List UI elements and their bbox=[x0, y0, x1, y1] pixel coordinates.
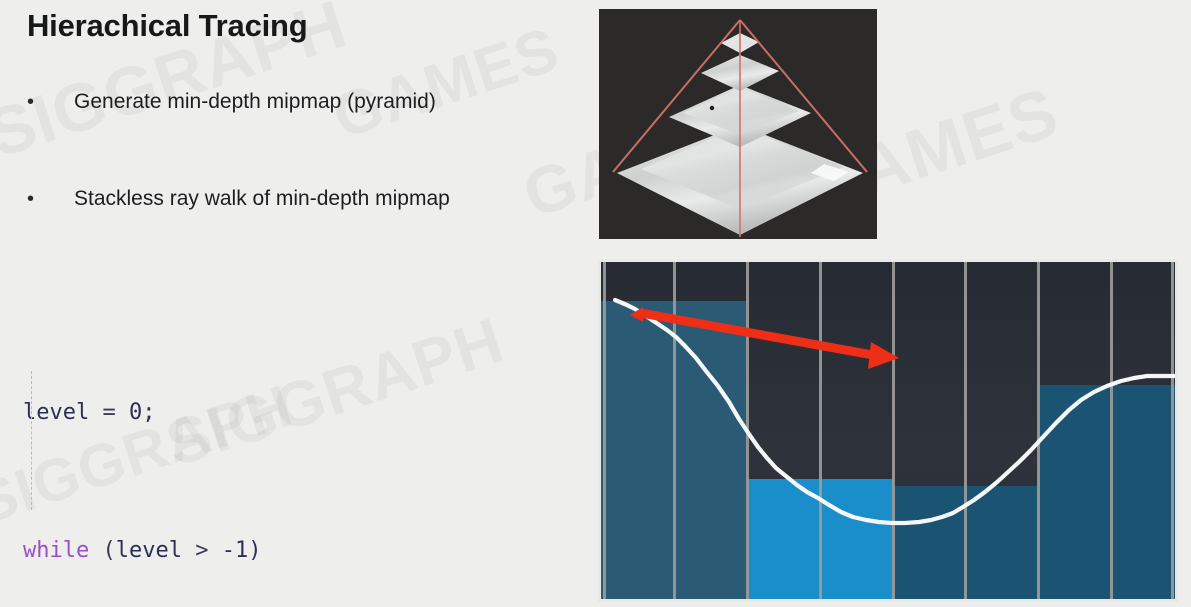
code-line-1: level = 0; bbox=[23, 396, 434, 431]
code-token-variable: level bbox=[23, 400, 89, 425]
bullet-text: Generate min-depth mipmap (pyramid) bbox=[74, 89, 436, 115]
pyramid-svg bbox=[599, 9, 877, 239]
bullet-item-1: • Generate min-depth mipmap (pyramid) bbox=[27, 89, 436, 115]
code-token-variable: level bbox=[116, 538, 182, 563]
code-token-operator: = bbox=[89, 400, 129, 425]
ray-arrow-head-icon bbox=[868, 342, 899, 369]
code-line-2: while (level > -1) bbox=[23, 534, 434, 569]
code-token-keyword-while: while bbox=[23, 538, 89, 563]
ray-arrow-tail-barb bbox=[630, 307, 643, 322]
ray-arrow bbox=[601, 262, 1175, 599]
pyramid-mipmap-image bbox=[599, 9, 877, 239]
ray-arrow-shaft bbox=[641, 313, 884, 357]
code-indent-guide bbox=[31, 371, 32, 510]
bullet-marker-icon: • bbox=[27, 186, 43, 212]
code-block: level = 0; while (level > -1) { stepCurr… bbox=[23, 292, 434, 607]
code-token-number: 0; bbox=[129, 400, 156, 425]
depth-chart bbox=[598, 259, 1178, 602]
mipmap-texel-dot bbox=[710, 106, 714, 110]
bullet-item-2: • Stackless ray walk of min-depth mipmap bbox=[27, 186, 450, 212]
slide: SIGGRAPH GAMES SIGGRAPH GAMES SIGGRAPH G… bbox=[0, 0, 1191, 607]
code-token-paren: ( bbox=[89, 538, 116, 563]
code-token-number: -1) bbox=[222, 538, 262, 563]
page-title: Hierachical Tracing bbox=[27, 8, 308, 44]
depth-chart-plot-area bbox=[601, 262, 1175, 599]
code-token-operator: > bbox=[182, 538, 222, 563]
bullet-text: Stackless ray walk of min-depth mipmap bbox=[74, 186, 450, 212]
left-content-column: Hierachical Tracing • Generate min-depth… bbox=[0, 0, 600, 607]
bullet-marker-icon: • bbox=[27, 89, 43, 115]
